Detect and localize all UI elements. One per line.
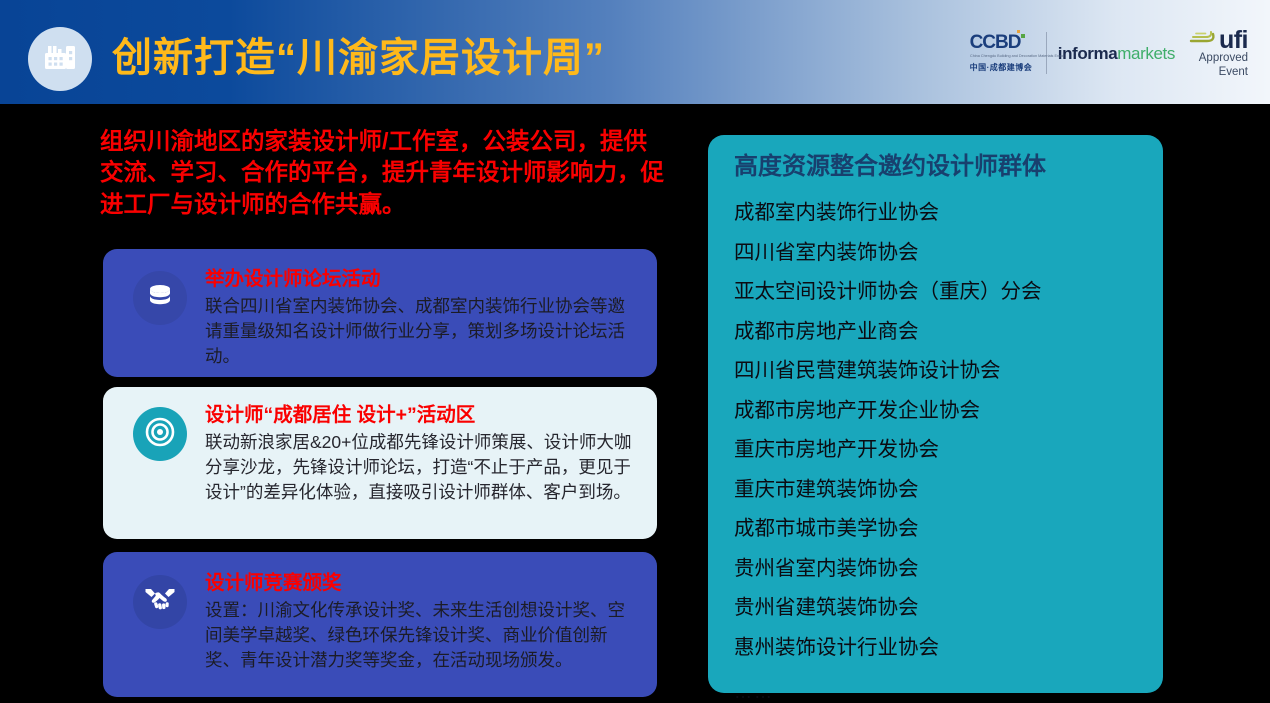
card-body: 设计师竞赛颁奖 设置：川渝文化传承设计奖、未来生活创想设计奖、空间美学卓越奖、绿…	[205, 569, 641, 673]
list-item: 成都市城市美学协会	[734, 510, 1163, 550]
ccbd-wordmark: CCBD	[970, 33, 1021, 52]
list-item: 惠州装饰设计行业协会	[734, 628, 1163, 668]
card-title: 设计师“成都居住 设计+”活动区	[205, 403, 641, 427]
list-item: 重庆市建筑装饰协会	[734, 470, 1163, 510]
card-body: 举办设计师论坛活动 联合四川省室内装饰协会、成都室内装饰行业协会等邀请重量级知名…	[205, 265, 641, 369]
slide-header: 创新打造“川渝家居设计周” CCBD China Chengdu Buildin…	[0, 0, 1270, 104]
ufi-swoosh-icon	[1189, 27, 1219, 51]
list-item: 重庆市房地产开发协会	[734, 431, 1163, 471]
associations-panel: 高度资源整合邀约设计师群体 成都室内装饰行业协会四川省室内装饰协会亚太空间设计师…	[708, 135, 1163, 693]
card-title: 设计师竞赛颁奖	[205, 571, 641, 595]
ccbd-subtitle-en: China Chengdu Building and Decoration Ma…	[970, 54, 1063, 60]
card-text: 联动新浪家居&20+位成都先锋设计师策展、设计师大咖分享沙龙，先锋设计师论坛，打…	[205, 430, 641, 505]
info-card-activity-zone[interactable]: 设计师“成都居住 设计+”活动区 联动新浪家居&20+位成都先锋设计师策展、设计…	[103, 387, 657, 539]
card-icon-wrap	[133, 271, 187, 325]
page-title: 创新打造“川渝家居设计周”	[112, 38, 605, 78]
header-icon-circle	[28, 27, 92, 91]
list-item: 四川省民营建筑装饰设计协会	[734, 352, 1163, 392]
panel-title: 高度资源整合邀约设计师群体	[734, 153, 1163, 182]
target-bullseye-icon	[144, 416, 176, 453]
card-body: 设计师“成都居住 设计+”活动区 联动新浪家居&20+位成都先锋设计师策展、设计…	[205, 401, 641, 505]
informa-word: informa	[1058, 44, 1118, 63]
markets-word: markets	[1117, 44, 1175, 63]
info-card-forum[interactable]: 举办设计师论坛活动 联合四川省室内装饰协会、成都室内装饰行业协会等邀请重量级知名…	[103, 249, 657, 377]
card-text: 设置：川渝文化传承设计奖、未来生活创想设计奖、空间美学卓越奖、绿色环保先锋设计奖…	[205, 598, 641, 673]
ccbd-mark-text: CCBD	[970, 32, 1021, 53]
card-text: 联合四川省室内装饰协会、成都室内装饰行业协会等邀请重量级知名设计师做行业分享，策…	[205, 294, 641, 369]
card-icon-wrap	[133, 407, 187, 461]
ccbd-logo: CCBD China Chengdu Building and Decorati…	[970, 28, 1044, 78]
list-item: 成都市房地产业商会	[734, 312, 1163, 352]
associations-list: 成都室内装饰行业协会四川省室内装饰协会亚太空间设计师协会（重庆）分会成都市房地产…	[734, 194, 1163, 668]
slide-body: 组织川渝地区的家装设计师/工作室，公装公司，提供交流、学习、合作的平台，提升青年…	[0, 104, 1270, 697]
panel-ellipsis: ……	[734, 668, 1163, 703]
informa-markets-logo: informamarkets	[1058, 45, 1175, 62]
info-card-awards[interactable]: 设计师竞赛颁奖 设置：川渝文化传承设计奖、未来生活创想设计奖、空间美学卓越奖、绿…	[103, 552, 657, 697]
ccbd-dots-icon	[1017, 30, 1027, 38]
list-item: 贵州省建筑装饰协会	[734, 589, 1163, 629]
list-item: 四川省室内装饰协会	[734, 233, 1163, 273]
factory-building-icon	[43, 42, 77, 77]
database-stack-icon	[146, 282, 174, 315]
ufi-wordmark: ufi	[1219, 30, 1248, 51]
card-title: 举办设计师论坛活动	[205, 267, 641, 291]
ufi-approved-label: Approved	[1199, 52, 1248, 65]
list-item: 亚太空间设计师协会（重庆）分会	[734, 273, 1163, 313]
card-icon-wrap	[133, 575, 187, 629]
ufi-event-label: Event	[1199, 66, 1248, 79]
ccbd-subtitle-cn: 中国·成都建博会	[970, 62, 1033, 73]
list-item: 贵州省室内装饰协会	[734, 549, 1163, 589]
logo-divider	[1046, 32, 1047, 74]
intro-paragraph: 组织川渝地区的家装设计师/工作室，公装公司，提供交流、学习、合作的平台，提升青年…	[100, 126, 665, 220]
handshake-icon	[144, 587, 176, 618]
list-item: 成都室内装饰行业协会	[734, 194, 1163, 234]
ufi-logo: ufi Approved Event	[1189, 27, 1248, 78]
list-item: 成都市房地产开发企业协会	[734, 391, 1163, 431]
logo-row: CCBD China Chengdu Building and Decorati…	[970, 26, 1248, 80]
